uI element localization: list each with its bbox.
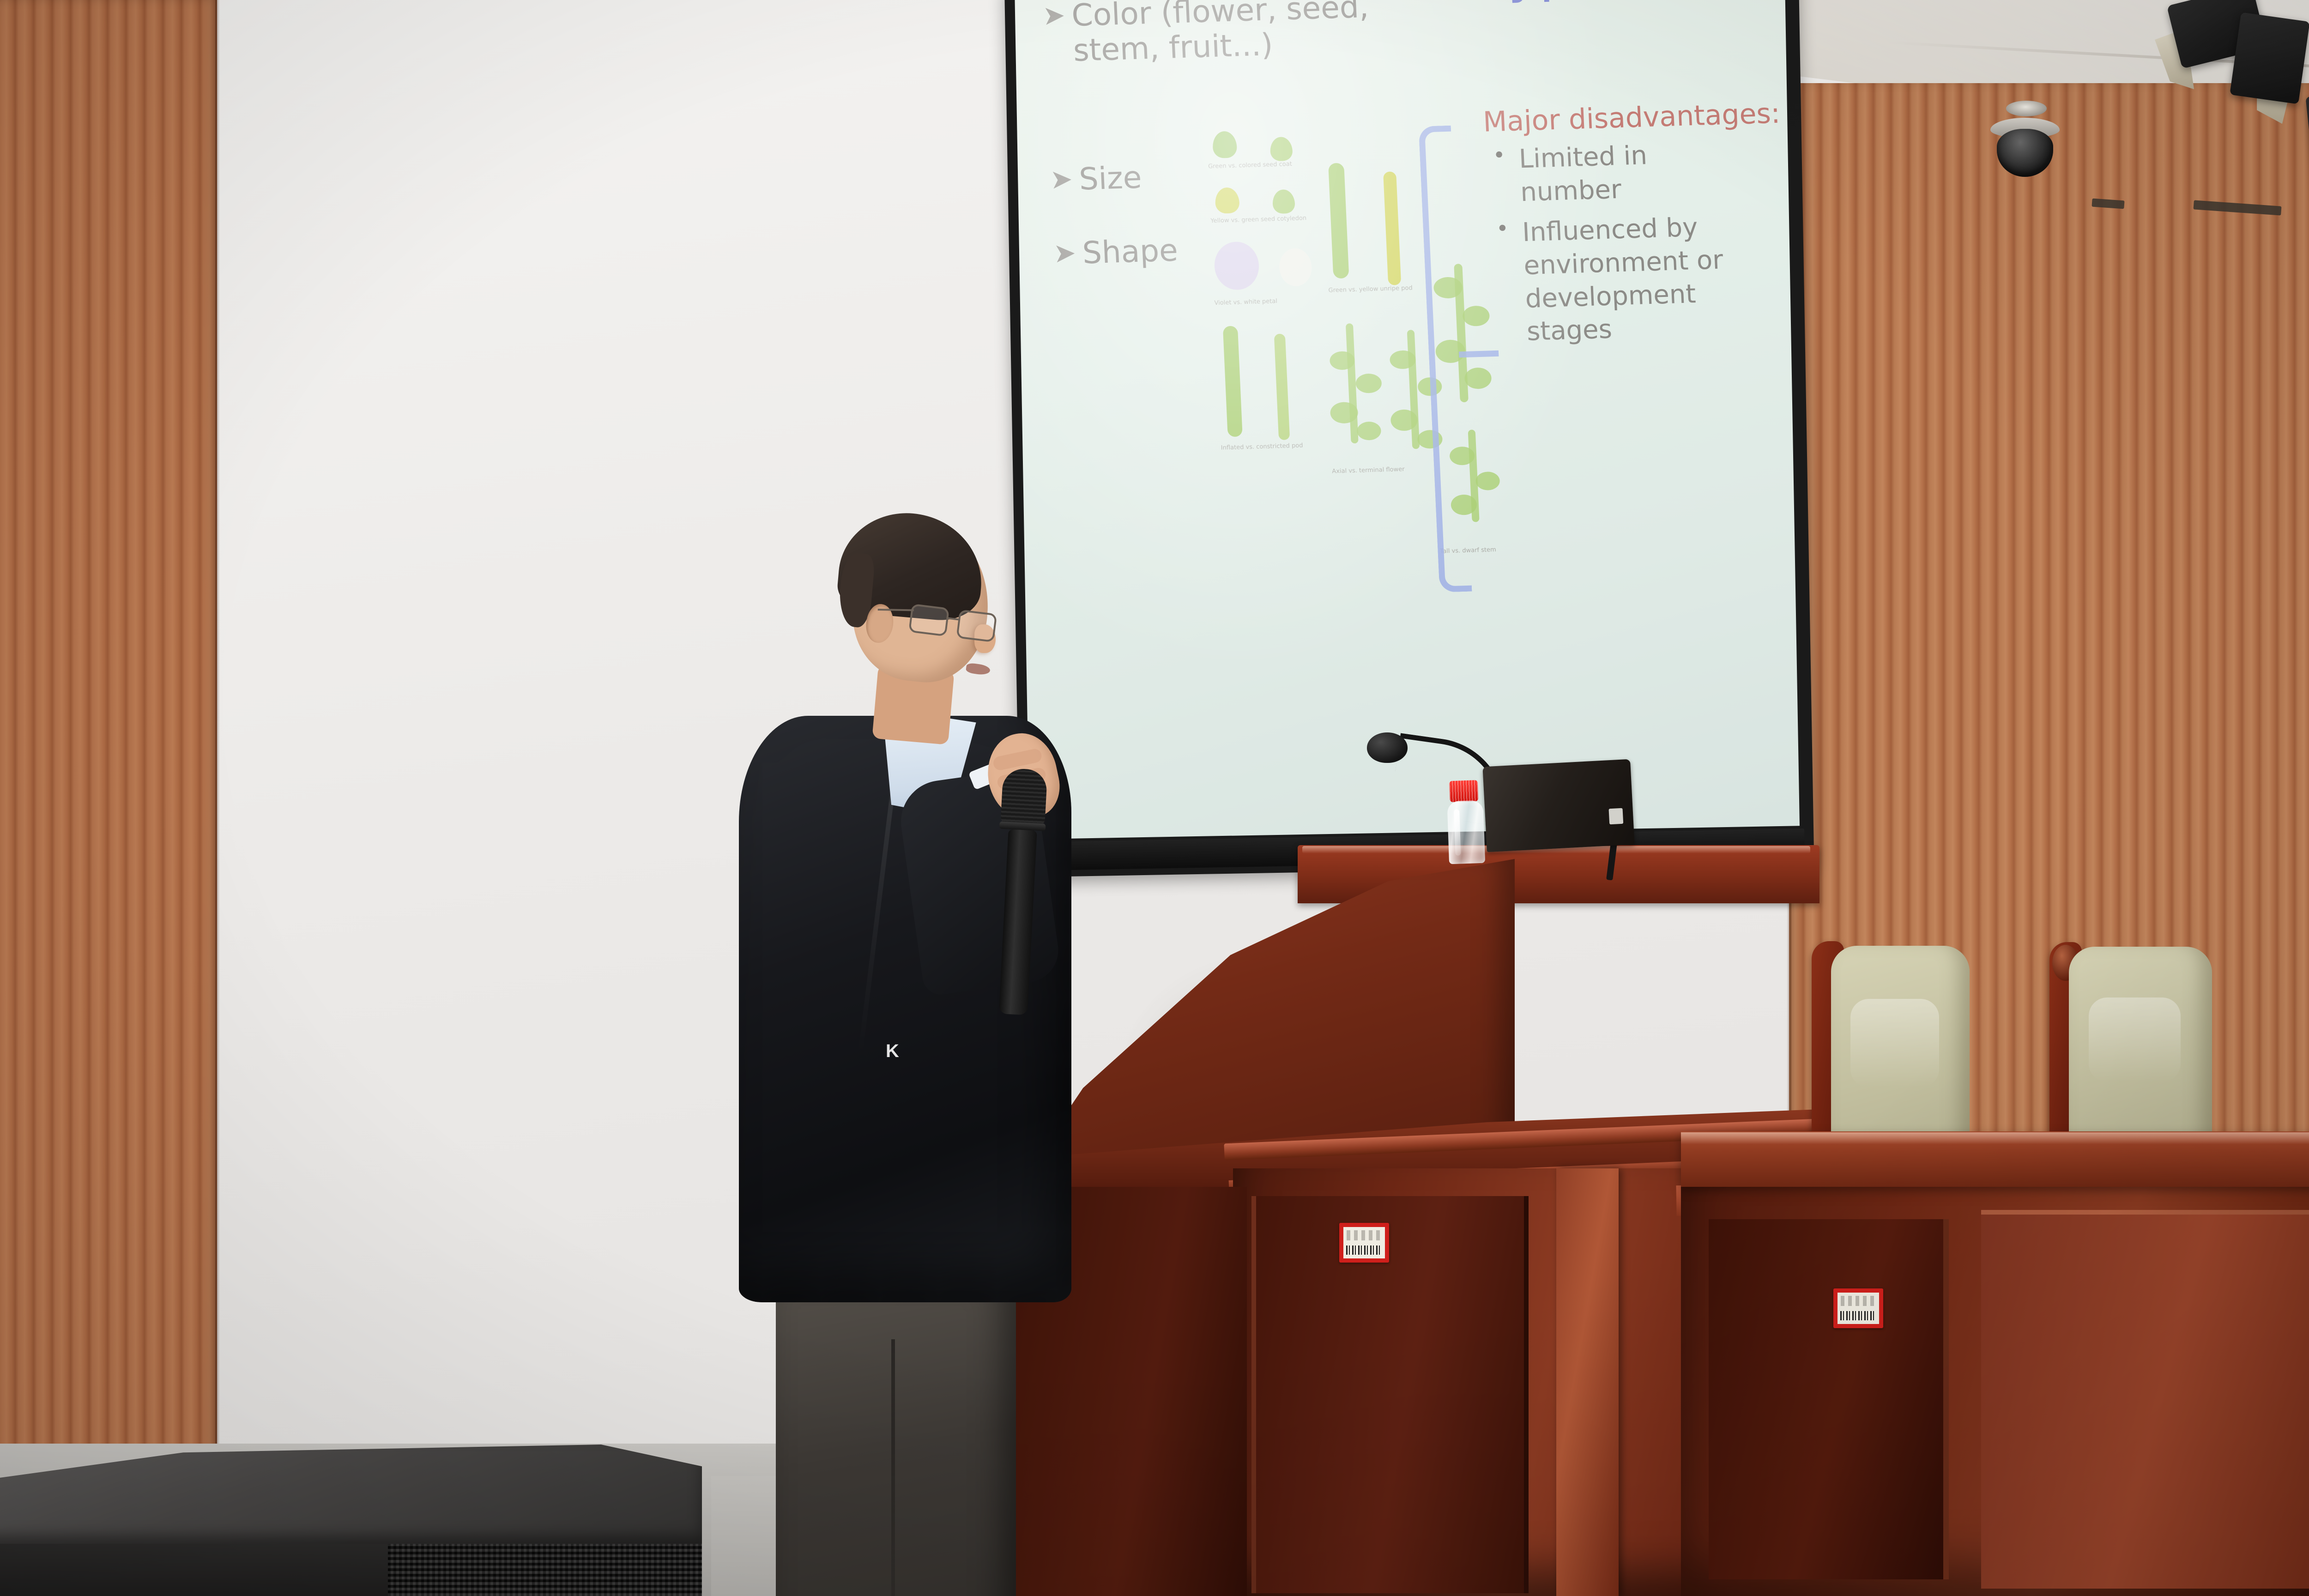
lecture-hall-scene: markers arker types ➤ Color (flower, see… <box>0 0 2309 1596</box>
stage-monitor-speaker <box>0 1445 702 1596</box>
screen-surface: markers arker types ➤ Color (flower, see… <box>1015 0 1800 839</box>
arrow-bullet-icon: ➤ <box>1053 236 1077 270</box>
slide-bullet-color-label: Color (flower, seed, stem, fruit...) <box>1071 0 1407 68</box>
seed-green <box>1272 189 1295 214</box>
bottle-body <box>1447 800 1485 864</box>
petal-white <box>1278 248 1312 287</box>
pod-yellow-unripe <box>1383 171 1401 285</box>
asset-tag-barcode-icon <box>1840 1311 1876 1320</box>
bottle-cap-icon <box>1449 780 1479 802</box>
microphone-body <box>999 829 1037 1016</box>
disadvantages-list: Limited in number Influenced by environm… <box>1484 136 1752 350</box>
podium-recessed-panel <box>1251 1196 1529 1593</box>
laptop[interactable] <box>1482 759 1634 852</box>
monitor-top <box>0 1445 702 1544</box>
water-bottle[interactable] <box>1446 780 1485 864</box>
stage-spotlight-icon <box>2230 12 2309 104</box>
laptop-badge-icon <box>1609 808 1624 825</box>
lens-left <box>908 604 949 637</box>
figure-caption: Green vs. colored seed coat <box>1208 161 1292 170</box>
gooseneck-mic-capsule-icon <box>1367 732 1408 763</box>
seed-yellow <box>1215 187 1240 213</box>
camera-dome <box>1997 129 2053 177</box>
glasses-bridge <box>948 617 959 621</box>
slide-bullet-size: ➤ Size <box>1049 160 1142 198</box>
presenter: K <box>757 503 1108 1596</box>
slide-bullet-shape: ➤ Shape <box>1053 233 1179 272</box>
asset-tag-text <box>1347 1230 1382 1240</box>
disadvantage-item: Influenced by environment or development… <box>1496 210 1752 349</box>
podium-corner-post <box>1556 1168 1619 1596</box>
asset-tag-text <box>1841 1296 1876 1306</box>
slide-disadvantages-block: Major disadvantages: Limited in number I… <box>1482 98 1753 357</box>
head-table-panel-right <box>1981 1210 2309 1589</box>
blue-brace-tick-icon <box>1459 351 1499 358</box>
arrow-bullet-icon: ➤ <box>1049 162 1073 196</box>
figure-caption: Yellow vs. green seed cotyledon <box>1210 215 1306 224</box>
seed-round-green-2 <box>1269 137 1293 161</box>
figure-caption: Violet vs. white petal <box>1214 298 1277 307</box>
laptop-lid <box>1482 759 1634 852</box>
figure-caption: Axial vs. terminal flower <box>1332 466 1405 475</box>
asset-tag-barcode-icon <box>1346 1245 1382 1255</box>
disadvantages-heading: Major disadvantages: <box>1482 98 1742 139</box>
pod-inflated <box>1223 326 1243 437</box>
lens-right <box>956 610 997 643</box>
petal-violet <box>1214 241 1260 290</box>
figure-caption: Green vs. yellow unripe pod <box>1328 284 1413 294</box>
recessed-ceiling-light <box>2006 101 2047 116</box>
left-wood-panel-wall <box>0 0 217 1469</box>
arrow-bullet-icon: ➤ <box>1042 0 1066 32</box>
pod-constricted <box>1274 333 1290 440</box>
presentation-slide: markers arker types ➤ Color (flower, see… <box>1015 0 1800 839</box>
head-table-panel-left <box>1709 1219 1949 1579</box>
figure-caption: Inflated vs. constricted pod <box>1221 442 1303 451</box>
dome-security-camera-icon <box>1990 118 2060 179</box>
presenter-mouth <box>966 662 991 676</box>
plant-axial-flower <box>1325 322 1387 462</box>
seed-round-green <box>1212 131 1238 158</box>
head-table-gloss <box>1681 1132 2309 1144</box>
jacket-logo-icon: K <box>886 1043 904 1062</box>
podium-asset-tag <box>1339 1223 1389 1263</box>
slide-bullet-color: ➤ Color (flower, seed, stem, fruit...) <box>1042 0 1406 69</box>
desk-asset-tag <box>1833 1288 1883 1328</box>
pod-green-unripe <box>1328 163 1349 279</box>
disadvantage-item: Limited in number <box>1493 136 1746 210</box>
presenter-trousers <box>776 1270 1016 1596</box>
slide-bullet-size-label: Size <box>1078 160 1142 197</box>
slide-bullet-shape-label: Shape <box>1082 233 1179 271</box>
microphone-grille-icon <box>1000 768 1047 826</box>
